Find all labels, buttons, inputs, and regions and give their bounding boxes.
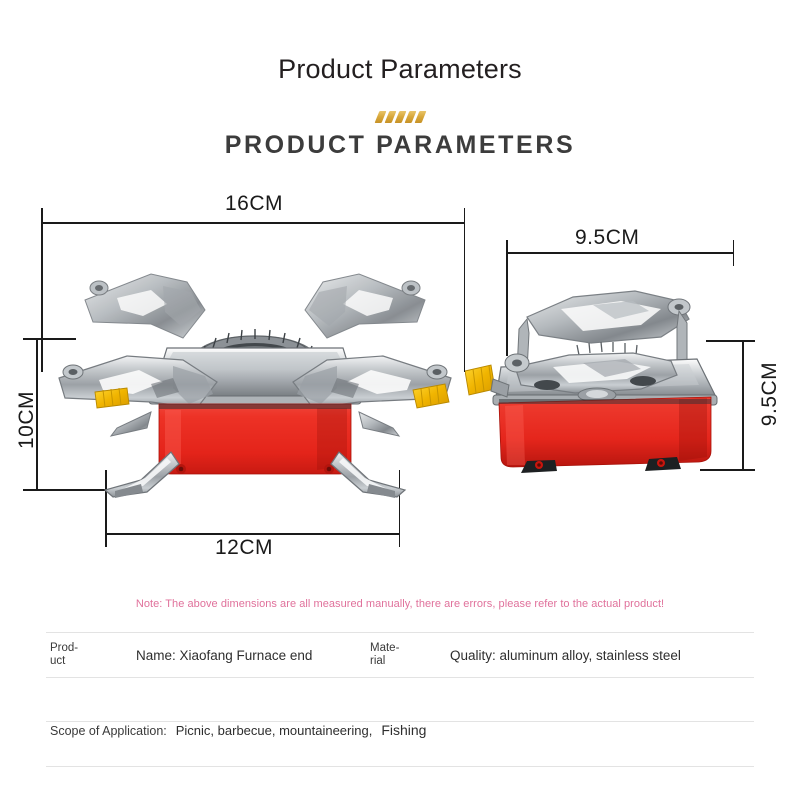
pot-support-arm-rear-right (305, 274, 425, 338)
specification-table: Prod- uct Name: Xiaofang Furnace end Mat… (46, 632, 754, 767)
control-knob-left (95, 388, 129, 408)
dimension-line-side-height-9-5cm (742, 340, 744, 470)
scope-value: Picnic, barbecue, mountaineering, (176, 723, 373, 738)
scope-value-extra: Fishing (381, 722, 426, 738)
folding-leg-rear-left (111, 412, 151, 436)
cell-material-value: Quality: aluminum alloy, stainless steel (422, 648, 681, 663)
dimension-label-base-12cm: 12CM (215, 536, 273, 560)
product-parameters-page: Product Parameters PRODUCT PARAMETERS 16… (0, 0, 800, 800)
dimension-ext-16cm-left (41, 222, 43, 372)
material-label-line2: rial (370, 655, 385, 667)
dimension-label-side-height-9-5cm: 9.5CM (758, 355, 782, 433)
scope-label: Scope of Application: (50, 724, 167, 738)
material-label-line1: Mate- (370, 642, 399, 654)
dimension-label-side-width-9-5cm: 9.5CM (575, 226, 639, 250)
page-subtitle: PRODUCT PARAMETERS (0, 131, 800, 160)
dimension-tick-side-9-5cm-right (733, 240, 735, 266)
decorative-slashes (0, 110, 800, 124)
product-label-line2: uct (50, 655, 65, 667)
folding-leg-front-right (331, 452, 405, 498)
folding-leg-front-left (105, 452, 179, 498)
cell-product-name: Name: Xiaofang Furnace end (120, 648, 370, 663)
stove-body-red-side (499, 397, 711, 467)
product-label-line1: Prod- (50, 642, 78, 654)
measurement-note: Note: The above dimensions are all measu… (0, 598, 800, 610)
table-row-scope: Scope of Application: Picnic, barbecue, … (46, 722, 754, 766)
cell-material-label: Mate- rial (370, 642, 422, 668)
slash-mark-5 (414, 111, 426, 123)
dimension-line-12cm (105, 533, 400, 535)
cell-product-label: Prod- uct (46, 642, 120, 668)
stove-front-view-illustration (55, 252, 455, 502)
dimension-label-width-16cm: 16CM (225, 192, 283, 216)
dimension-line-side-9-5cm (506, 252, 734, 254)
dimension-line-16cm (41, 222, 465, 224)
table-row-blank (46, 678, 754, 721)
stove-body-red (159, 404, 351, 474)
table-row-product: Prod- uct Name: Xiaofang Furnace end Mat… (46, 633, 754, 677)
table-rule-bottom (46, 766, 754, 767)
folding-leg-rear-right (359, 412, 399, 436)
stove-side-view-illustration (465, 275, 735, 475)
pot-support-arm-rear-left (85, 274, 205, 338)
dimension-line-10cm (36, 338, 38, 490)
page-title: Product Parameters (0, 54, 800, 85)
